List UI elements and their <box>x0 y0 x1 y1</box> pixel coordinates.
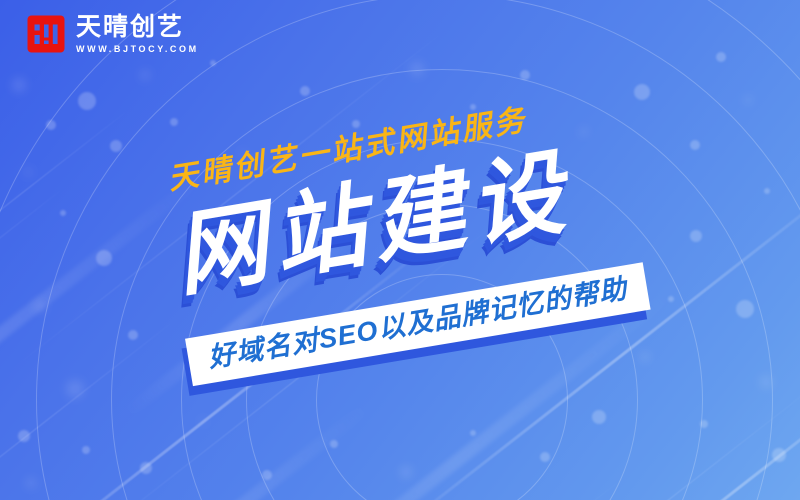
bokeh-dot <box>592 410 606 424</box>
light-streak <box>300 471 632 500</box>
light-streak <box>20 399 375 500</box>
bokeh-dot <box>690 230 702 242</box>
bokeh-dot <box>262 470 272 480</box>
bokeh-dot <box>110 140 122 152</box>
bokeh-dot <box>140 70 150 80</box>
bokeh-dot <box>66 380 84 398</box>
logo-company-name: 天晴创艺 <box>76 15 199 40</box>
light-streak <box>0 185 67 371</box>
promo-banner: 天晴创艺 WWW.BJTOCY.COM 天晴创艺一站式网站服务 网站建设 好域名… <box>0 0 800 500</box>
bokeh-dot <box>78 92 96 110</box>
hero-text-block: 天晴创艺一站式网站服务 网站建设 好域名对SEO以及品牌记忆的帮助 <box>159 81 667 425</box>
bokeh-dot <box>760 376 772 388</box>
light-streak <box>520 430 800 500</box>
bokeh-dot <box>300 86 310 96</box>
bokeh-dot <box>716 52 726 62</box>
bokeh-dot <box>18 430 30 442</box>
bokeh-dot <box>12 78 26 92</box>
bokeh-dot <box>540 452 550 462</box>
bokeh-dot <box>772 448 786 462</box>
bokeh-dot <box>736 300 754 318</box>
bokeh-dot <box>128 330 138 340</box>
bokeh-dot <box>700 420 708 428</box>
bokeh-dot <box>668 296 674 302</box>
bokeh-dot <box>520 70 530 80</box>
bokeh-dot <box>330 440 338 448</box>
bokeh-dot <box>634 84 650 100</box>
bokeh-dot <box>24 168 32 176</box>
bokeh-dot <box>60 210 66 216</box>
light-streak <box>580 364 800 500</box>
bokeh-dot <box>140 462 152 474</box>
logo-mark-icon <box>26 14 66 54</box>
bokeh-dot <box>690 140 700 150</box>
bokeh-dot <box>210 60 216 66</box>
bokeh-dot <box>96 250 112 266</box>
logo-text-block: 天晴创艺 WWW.BJTOCY.COM <box>76 15 199 54</box>
light-streak <box>450 374 800 500</box>
logo-website-url: WWW.BJTOCY.COM <box>76 45 199 54</box>
bokeh-dot <box>744 96 752 104</box>
bokeh-dot <box>26 478 36 488</box>
light-streak <box>0 316 180 500</box>
bokeh-dot <box>764 188 770 194</box>
bokeh-dot <box>170 118 178 126</box>
bokeh-dot <box>640 352 650 362</box>
bokeh-dot <box>46 120 56 130</box>
bokeh-dot <box>410 62 424 76</box>
bokeh-dot <box>82 446 90 454</box>
bokeh-dot <box>34 300 46 312</box>
brand-logo[interactable]: 天晴创艺 WWW.BJTOCY.COM <box>26 14 199 54</box>
bokeh-dot <box>470 430 476 436</box>
light-streak <box>0 108 131 281</box>
bokeh-dot <box>400 466 412 478</box>
